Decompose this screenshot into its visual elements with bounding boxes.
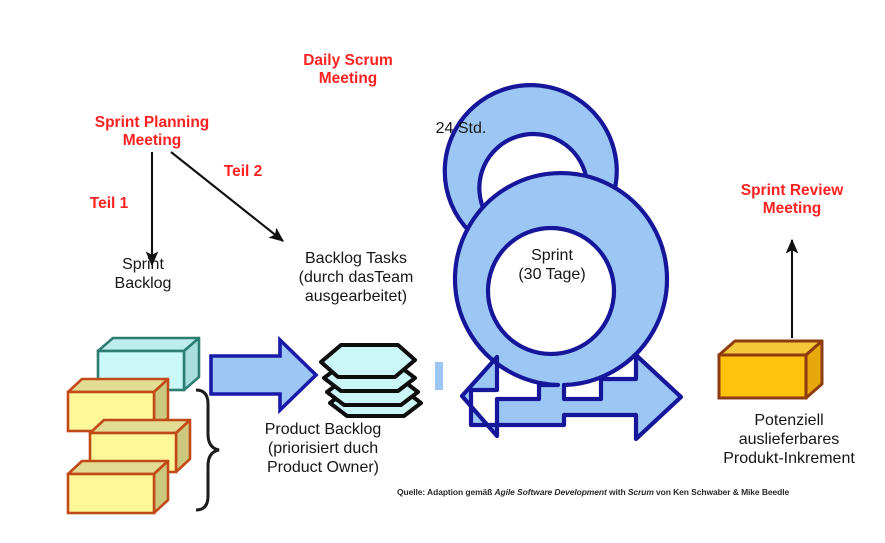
source-middle: with xyxy=(607,487,628,497)
label-product-increment: Potenziell auslieferbares Produkt-Inkrem… xyxy=(692,412,885,469)
label-teil-2: Teil 2 xyxy=(212,163,274,181)
label-sprint-planning-meeting: Sprint Planning Meeting xyxy=(62,114,242,151)
arrow-tasks-to-sprint xyxy=(435,362,443,390)
label-daily-scrum-meeting: Daily Scrum Meeting xyxy=(268,52,428,89)
label-sprint-backlog: Sprint Backlog xyxy=(88,256,198,294)
source-work-scrum: Scrum xyxy=(628,487,654,497)
product-increment-box-icon xyxy=(719,341,822,398)
label-product-backlog: Product Backlog (priorisiert duch Produc… xyxy=(232,421,414,478)
scrum-diagram: Daily Scrum Meeting Sprint Planning Meet… xyxy=(0,0,885,543)
sprint-cycle-icon xyxy=(455,173,681,439)
source-citation: Quelle: Adaption gemäß Agile Software De… xyxy=(397,487,877,497)
label-24-std: 24 Std. xyxy=(408,120,514,139)
label-sprint-review-meeting: Sprint Review Meeting xyxy=(712,182,872,219)
product-backlog-stack-icon xyxy=(68,379,190,513)
label-teil-1: Teil 1 xyxy=(78,195,140,213)
source-work-title: Agile Software Development xyxy=(495,487,607,497)
label-sprint-duration: Sprint (30 Tage) xyxy=(498,247,606,285)
source-suffix: von Ken Schwaber & Mike Beedle xyxy=(654,487,789,497)
arrow-backlog-to-tasks xyxy=(211,340,316,410)
backlog-tasks-papers-icon xyxy=(321,345,421,416)
product-backlog-brace xyxy=(196,390,219,510)
source-prefix: Quelle: Adaption gemäß xyxy=(397,487,495,497)
label-backlog-tasks: Backlog Tasks (durch dasTeam ausgearbeit… xyxy=(268,250,444,307)
